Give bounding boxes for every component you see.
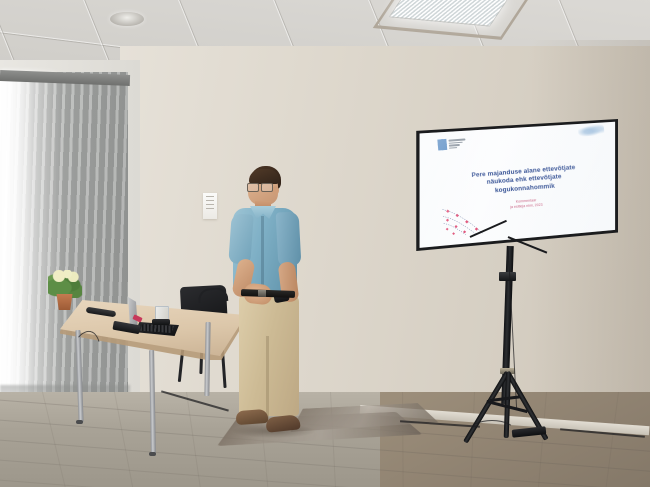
slide-logo-left <box>437 137 466 150</box>
window-light-glow <box>0 70 62 400</box>
trousers <box>239 294 299 416</box>
wall-notice-paper <box>203 193 217 219</box>
stand-clamp <box>499 272 516 281</box>
shirt-sleeve-right <box>276 211 302 266</box>
presentation-slide: Pere majanduse alane ettevõtjate näukoda… <box>432 122 616 235</box>
trouser-seam <box>266 336 269 418</box>
shoe-left <box>236 409 269 425</box>
recessed-downlight-icon <box>110 12 144 26</box>
glass-coaster <box>152 319 170 325</box>
glasses-icon <box>247 183 273 190</box>
shirt-sleeve-left <box>228 213 253 264</box>
slide-logo-right-icon <box>578 124 605 137</box>
television-display: Pere majanduse alane ettevõtjate näukoda… <box>410 119 618 251</box>
plant-flowers <box>52 270 80 282</box>
floor-cable-loop <box>468 420 516 444</box>
shirt-button-placket <box>261 216 264 290</box>
table-foot <box>76 420 83 424</box>
hair-top <box>249 169 279 184</box>
slide-decoration-diamonds <box>440 204 492 238</box>
organization-logo-text <box>448 138 466 148</box>
presenter-person <box>222 166 322 448</box>
room-photograph: Pere majanduse alane ettevõtjate näukoda… <box>0 0 650 487</box>
belt-buckle <box>258 290 266 297</box>
ear <box>272 186 279 195</box>
table-foot <box>149 452 156 456</box>
organization-logo-icon <box>437 139 447 151</box>
